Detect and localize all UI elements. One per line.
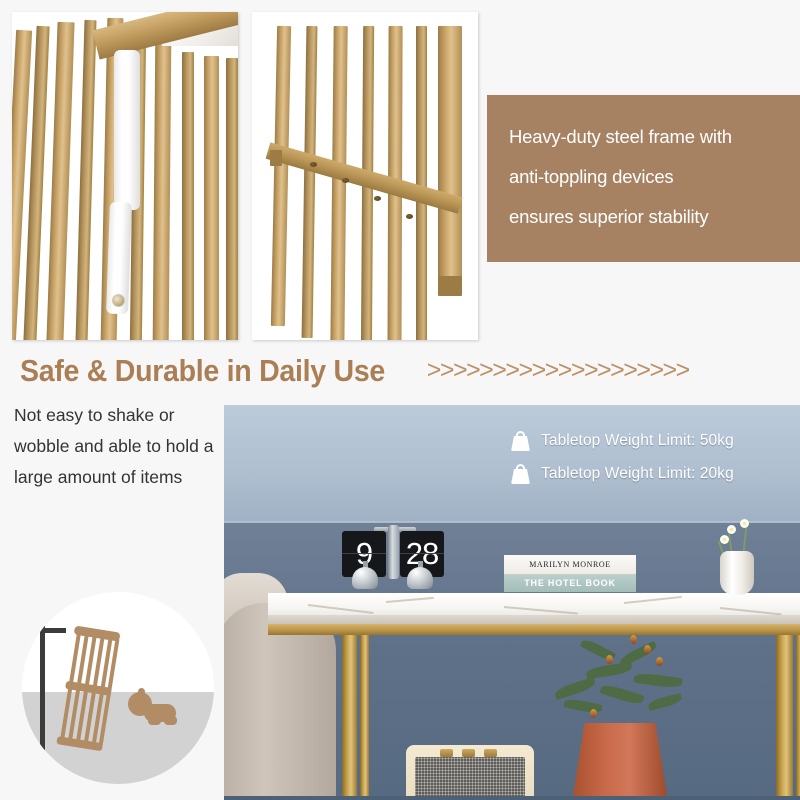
anti-toppling-strap bbox=[114, 50, 140, 210]
left-description-text: Not easy to shake or wobble and able to … bbox=[14, 400, 224, 493]
weight-limit-row: Tabletop Weight Limit: 20kg bbox=[510, 457, 795, 490]
flower-head bbox=[727, 525, 736, 534]
flip-clock: 9 28 bbox=[342, 525, 446, 587]
flower-head bbox=[720, 535, 729, 544]
terracotta-planter bbox=[572, 723, 668, 800]
anti-tip-safety-illustration bbox=[22, 592, 214, 784]
section-headline: Safe & Durable in Daily Use bbox=[20, 353, 385, 389]
book-stack: MARILYN MONROE THE HOTEL BOOK bbox=[504, 555, 636, 591]
weight-limit-list: Tabletop Weight Limit: 50kg Tabletop Wei… bbox=[510, 424, 795, 490]
table-leg-left-rear bbox=[360, 635, 369, 800]
weight-icon bbox=[510, 463, 531, 484]
table-leg-right-rear bbox=[796, 635, 800, 800]
section-headline-row: Safe & Durable in Daily Use >>>>>>>>>>>>… bbox=[0, 348, 800, 394]
olive-branch-foliage bbox=[544, 631, 704, 727]
book-title-top: MARILYN MONROE bbox=[504, 555, 636, 575]
flower-head bbox=[740, 519, 749, 528]
book-title-bottom: THE HOTEL BOOK bbox=[504, 575, 636, 592]
frame-base-group bbox=[252, 12, 478, 340]
gold-slats-group bbox=[12, 12, 238, 340]
feature-callout-panel: Heavy-duty steel frame with anti-topplin… bbox=[487, 95, 800, 262]
strap-grommet bbox=[112, 294, 125, 307]
ceramic-vase bbox=[720, 551, 754, 595]
floor-strip bbox=[224, 796, 800, 800]
callout-line-1: Heavy-duty steel frame with bbox=[509, 117, 800, 157]
weight-limit-label: Tabletop Weight Limit: 20kg bbox=[541, 465, 734, 483]
weight-limit-label: Tabletop Weight Limit: 50kg bbox=[541, 432, 734, 450]
clock-bell-left bbox=[352, 567, 378, 589]
weight-limit-row: Tabletop Weight Limit: 50kg bbox=[510, 424, 795, 457]
frame-foot-right bbox=[438, 276, 462, 296]
speaker-grille bbox=[415, 757, 525, 800]
product-infographic: Heavy-duty steel frame with anti-topplin… bbox=[0, 0, 800, 800]
callout-line-3: ensures superior stability bbox=[509, 197, 800, 237]
table-leg-right bbox=[776, 635, 793, 800]
photo-steel-frame-base bbox=[252, 12, 478, 340]
retro-speaker bbox=[406, 745, 534, 800]
illustration-floor bbox=[22, 692, 214, 784]
tabletop-edge bbox=[268, 615, 800, 624]
clock-bell-right bbox=[407, 567, 433, 589]
chevron-arrows-icon: >>>>>>>>>>>>>>>>>>>> bbox=[427, 358, 689, 383]
clock-center-post bbox=[388, 525, 399, 579]
callout-line-2: anti-toppling devices bbox=[509, 157, 800, 197]
photo-anti-toppling-strap bbox=[12, 12, 238, 340]
illustration-baby bbox=[126, 688, 182, 730]
table-apron bbox=[268, 624, 800, 635]
frame-foot-left bbox=[270, 150, 282, 166]
table-leg-left bbox=[342, 635, 357, 800]
weight-icon bbox=[510, 430, 531, 451]
illustration-wall-bracket bbox=[44, 628, 66, 633]
